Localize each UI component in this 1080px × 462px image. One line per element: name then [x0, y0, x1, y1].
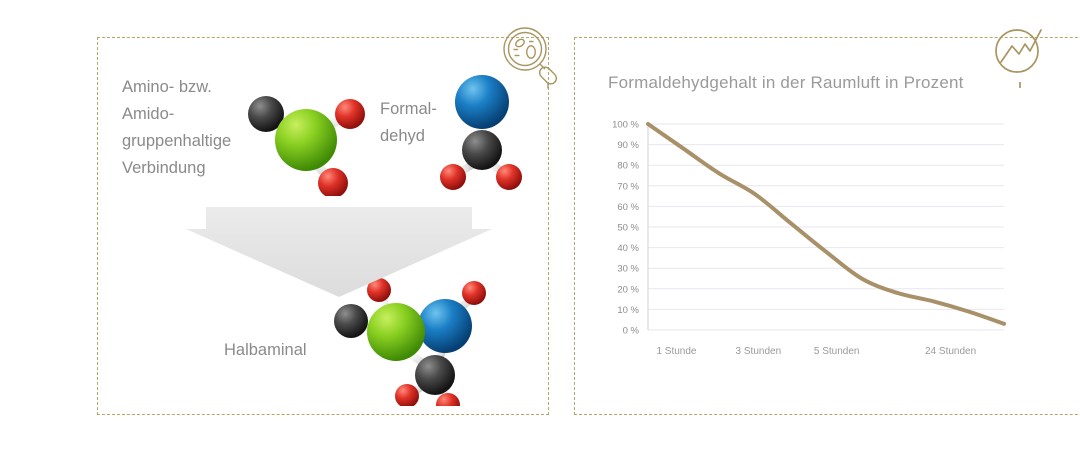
svg-text:90 %: 90 % — [617, 140, 639, 151]
svg-text:20 %: 20 % — [617, 284, 639, 295]
svg-text:70 %: 70 % — [617, 181, 639, 192]
svg-text:50 %: 50 % — [617, 223, 639, 234]
svg-text:5 Stunden: 5 Stunden — [814, 346, 860, 357]
svg-text:40 %: 40 % — [617, 243, 639, 254]
product-label: Halbaminal — [224, 338, 307, 362]
svg-text:24 Stunden: 24 Stunden — [925, 346, 976, 357]
amino-compound-molecule — [238, 84, 368, 196]
svg-text:10 %: 10 % — [617, 305, 639, 316]
svg-text:1 Stunde: 1 Stunde — [656, 346, 696, 357]
svg-text:0 %: 0 % — [623, 326, 640, 337]
svg-text:3 Stunden: 3 Stunden — [736, 346, 782, 357]
magnifier-molecule-icon — [500, 24, 562, 90]
down-arrow — [186, 207, 492, 297]
svg-text:100 %: 100 % — [612, 120, 639, 131]
line-chart-circle-icon — [989, 24, 1051, 90]
svg-text:60 %: 60 % — [617, 202, 639, 213]
chart-title: Formaldehydgehalt in der Raumluft in Pro… — [608, 73, 964, 93]
line-chart: 100 %90 %80 %70 %60 %50 %40 %30 %20 %10 … — [600, 118, 1012, 376]
svg-text:80 %: 80 % — [617, 161, 639, 172]
svg-text:30 %: 30 % — [617, 264, 639, 275]
